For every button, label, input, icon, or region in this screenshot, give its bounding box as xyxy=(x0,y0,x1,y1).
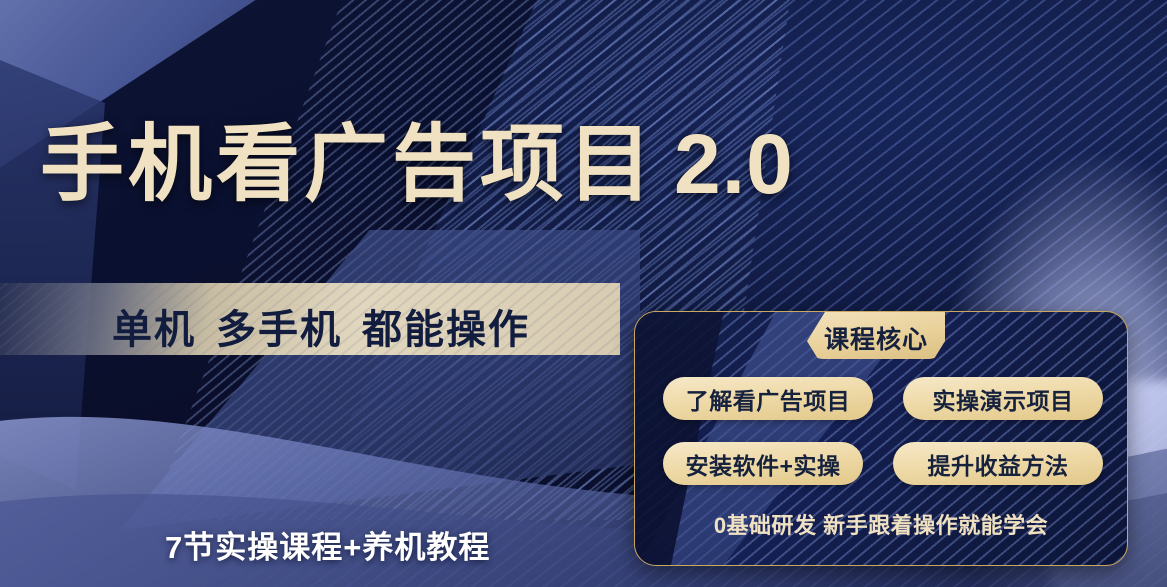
title-version-text: 2.0 xyxy=(674,117,794,211)
subtitle-segment-3: 都能操作 xyxy=(362,308,530,352)
card-header-badge-label: 课程核心 xyxy=(807,320,945,356)
feature-pill-3[interactable]: 安装软件+实操 xyxy=(663,442,863,485)
course-core-card: 课程核心 了解看广告项目 实操演示项目 安装软件+实操 提升收益方法 0基础研发… xyxy=(634,311,1128,566)
subtitle-segment-2: 多手机 xyxy=(216,308,342,352)
feature-pill-4[interactable]: 提升收益方法 xyxy=(893,442,1103,485)
subtitle: 单机多手机都能操作 xyxy=(112,297,530,355)
page-title: 手机看广告项目2.0 xyxy=(40,122,794,206)
bottom-caption: 7节实操课程+养机教程 xyxy=(165,522,490,567)
card-footer-note: 0基础研发 新手跟着操作就能学会 xyxy=(635,508,1127,540)
subtitle-segment-1: 单机 xyxy=(112,308,196,352)
title-main-text: 手机看广告项目 xyxy=(40,117,656,211)
feature-pill-2[interactable]: 实操演示项目 xyxy=(903,377,1103,420)
promo-poster: 手机看广告项目2.0 单机多手机都能操作 7节实操课程+养机教程 课程核心 了解… xyxy=(0,0,1167,587)
feature-pill-1[interactable]: 了解看广告项目 xyxy=(663,377,873,420)
